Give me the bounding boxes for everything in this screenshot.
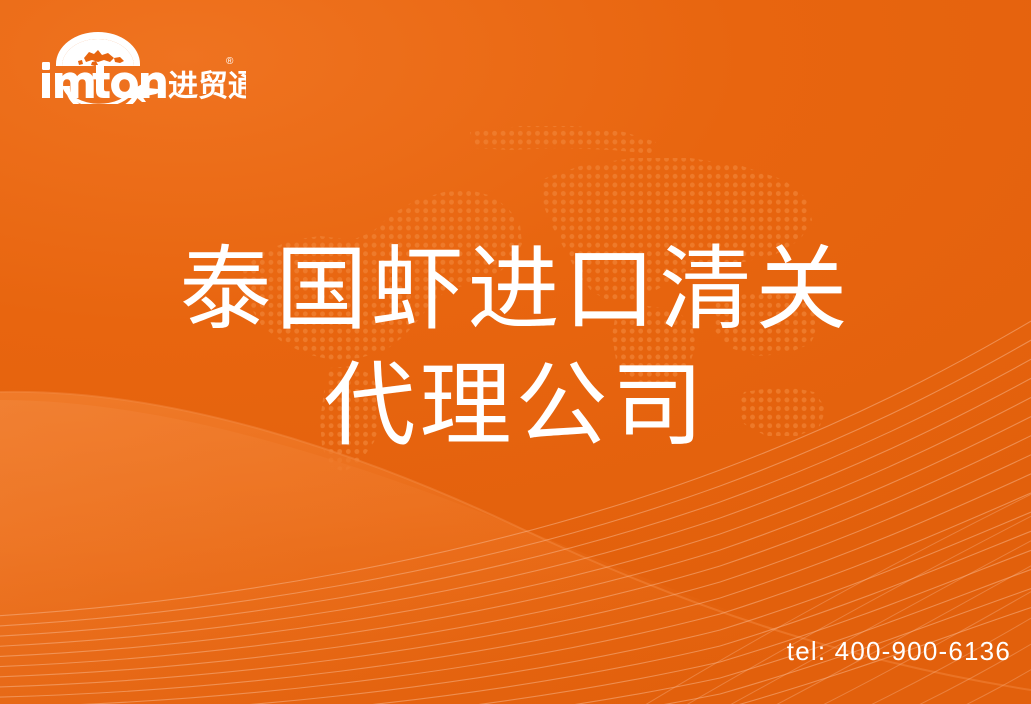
logo-wordmark xyxy=(42,62,166,99)
logo-chinese-name: 进贸通 xyxy=(168,69,246,104)
globe-arc-icon xyxy=(56,32,140,66)
registered-trademark-icon: ® xyxy=(226,56,234,67)
promotional-banner: 进贸通 ® 泰国虾进口清关 代理公司 tel: 400-900-6136 xyxy=(0,0,1031,704)
headline-line-1: 泰国虾进口清关 xyxy=(0,232,1031,348)
headline: 泰国虾进口清关 代理公司 xyxy=(0,232,1031,464)
headline-line-2: 代理公司 xyxy=(0,348,1031,464)
contact-phone[interactable]: tel: 400-900-6136 xyxy=(787,636,1011,666)
brand-logo[interactable]: 进贸通 ® xyxy=(36,28,246,104)
